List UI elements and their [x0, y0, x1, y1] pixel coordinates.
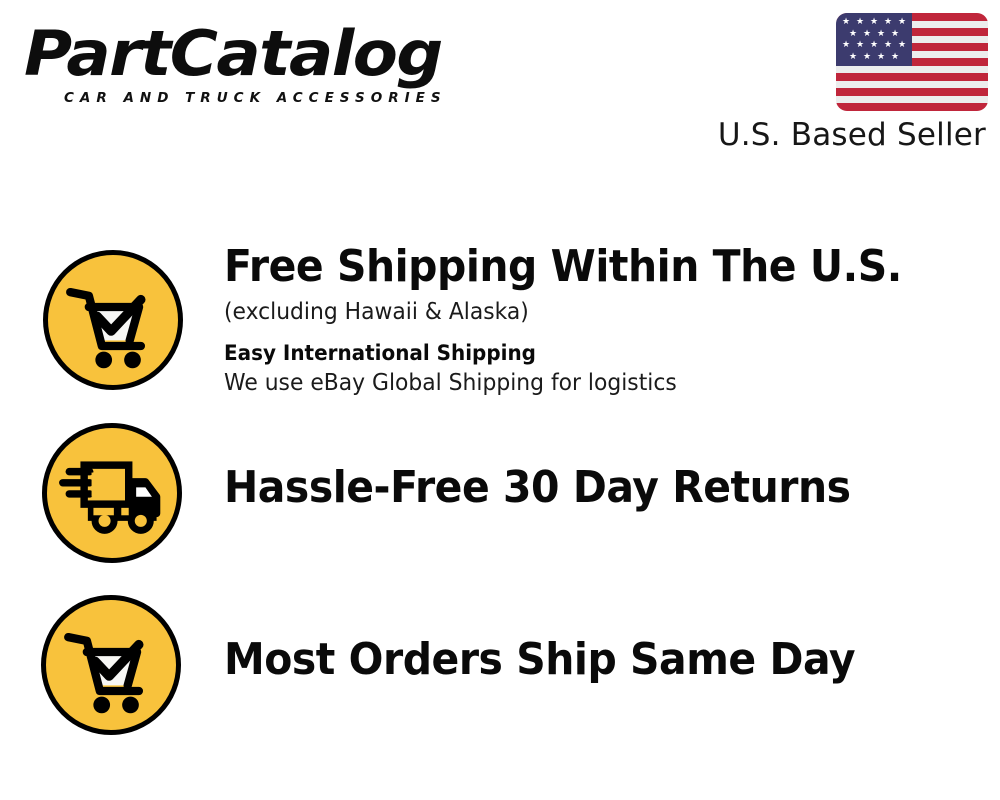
flag-stripe [836, 103, 988, 111]
brand-logo[interactable]: PartCatalog CAR AND TRUCK ACCESSORIES [24, 20, 494, 106]
benefit-sub-note: (excluding Hawaii & Alaska) [224, 297, 946, 327]
benefit-text-same-day: Most Orders Ship Same Day [224, 635, 984, 685]
flag-canton: ★ ★ ★ ★ ★ ★ ★ ★ ★ ★ ★ ★ ★ ★ ★ ★ ★ ★ [836, 13, 912, 66]
benefit-text-free-shipping: Free Shipping Within The U.S. (excluding… [224, 242, 984, 398]
benefit-headline: Most Orders Ship Same Day [224, 635, 931, 685]
flag-stripe [836, 88, 988, 96]
flag-stripe [836, 96, 988, 104]
page-header: PartCatalog CAR AND TRUCK ACCESSORIES ★ … [0, 0, 1000, 180]
united-states-flag-icon: ★ ★ ★ ★ ★ ★ ★ ★ ★ ★ ★ ★ ★ ★ ★ ★ ★ ★ [836, 13, 988, 111]
benefit-sub-detail: We use eBay Global Shipping for logistic… [224, 368, 946, 398]
benefit-row-same-day: Most Orders Ship Same Day [0, 590, 1000, 745]
delivery-truck-icon [42, 423, 182, 563]
shopping-cart-check-icon [41, 595, 181, 735]
benefit-headline: Hassle-Free 30 Day Returns [224, 463, 931, 513]
brand-tagline: CAR AND TRUCK ACCESSORIES [64, 90, 494, 106]
shopping-cart-check-icon [43, 250, 183, 390]
brand-wordmark: PartCatalog [24, 20, 522, 88]
benefit-headline: Free Shipping Within The U.S. [224, 242, 931, 292]
benefit-text-returns: Hassle-Free 30 Day Returns [224, 463, 984, 513]
benefit-row-free-shipping: Free Shipping Within The U.S. (excluding… [0, 245, 1000, 405]
benefit-sub-heading: Easy International Shipping [224, 339, 946, 367]
flag-stripe [836, 73, 988, 81]
benefit-row-returns: Hassle-Free 30 Day Returns [0, 418, 1000, 573]
us-based-seller-label: U.S. Based Seller [718, 117, 986, 153]
flag-stripe [836, 81, 988, 89]
flag-stripe [836, 66, 988, 74]
